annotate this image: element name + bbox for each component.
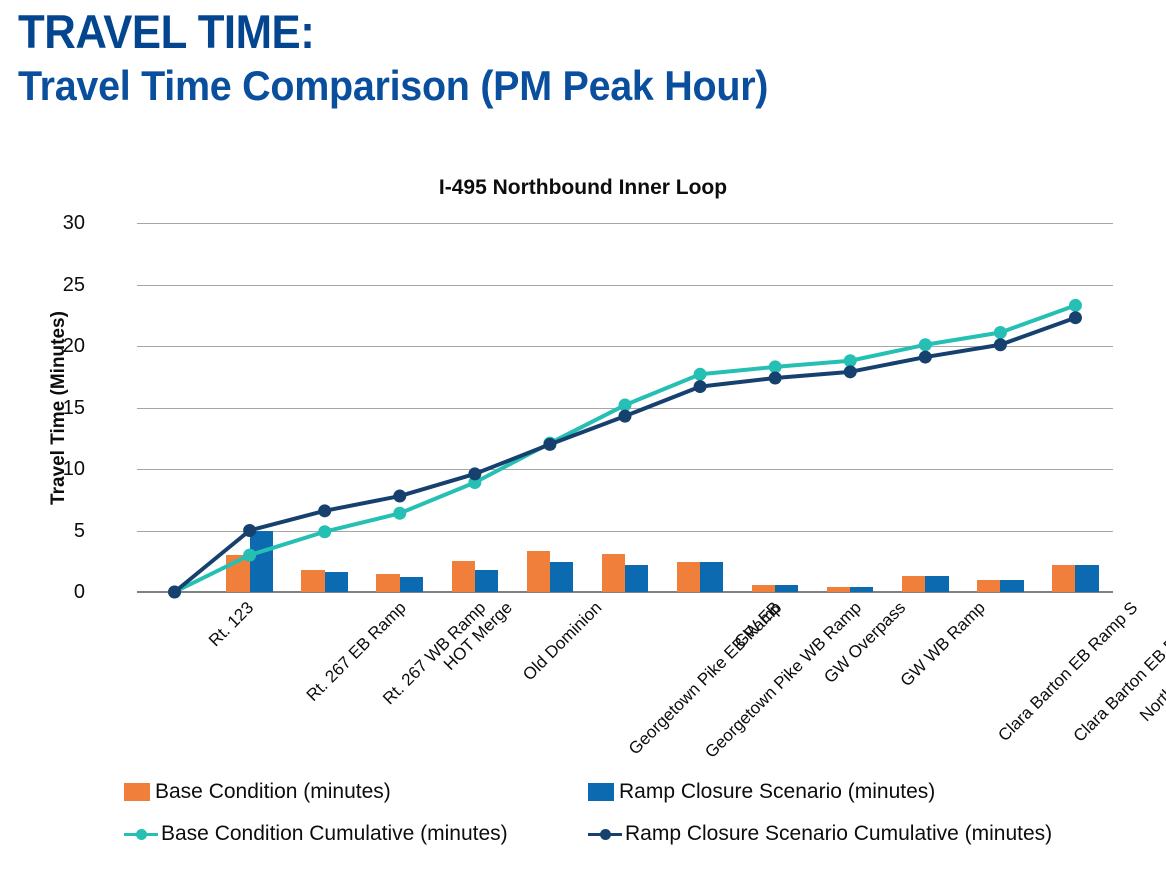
legend-swatch-icon [124, 783, 150, 801]
y-tick-label: 20 [25, 335, 85, 358]
lines-layer [137, 223, 1113, 592]
y-tick-label: 15 [25, 397, 85, 420]
data-point-marker [994, 338, 1007, 351]
chart: I-495 Northbound Inner Loop Travel Time … [0, 168, 1166, 778]
legend-label: Base Condition Cumulative (minutes) [161, 822, 508, 846]
y-tick-label: 25 [25, 274, 85, 297]
data-point-marker [243, 524, 256, 537]
x-tick-label: Clara Barton EB Ramp S [995, 598, 1143, 746]
data-point-marker [769, 371, 782, 384]
chart-legend: Base Condition (minutes)Ramp Closure Sce… [0, 780, 1166, 880]
data-point-marker [468, 467, 481, 480]
plot-area: Travel Time (Minutes) 051015202530 [137, 223, 1113, 592]
slide-heading: TRAVEL TIME: Travel Time Comparison (PM … [18, 4, 1148, 112]
legend-label: Base Condition (minutes) [155, 780, 391, 804]
data-point-marker [1069, 299, 1082, 312]
data-point-marker [919, 351, 932, 364]
data-point-marker [243, 549, 256, 562]
data-point-marker [619, 399, 632, 412]
x-tick-label: GW WB Ramp [897, 598, 990, 691]
y-tick-label: 10 [25, 458, 85, 481]
data-point-marker [168, 586, 181, 599]
data-point-marker [919, 338, 932, 351]
x-tick-label: GW EB [731, 598, 785, 652]
chart-title: I-495 Northbound Inner Loop [0, 176, 1166, 200]
data-point-marker [994, 326, 1007, 339]
data-point-marker [619, 410, 632, 423]
legend-swatch-icon [588, 783, 614, 801]
y-tick-label: 5 [25, 520, 85, 543]
data-point-marker [1069, 311, 1082, 324]
x-tick-label: Old Dominion [519, 598, 606, 685]
legend-label: Ramp Closure Scenario Cumulative (minute… [625, 822, 1052, 846]
line-series [175, 318, 1076, 592]
legend-item[interactable]: Ramp Closure Scenario Cumulative (minute… [588, 822, 1052, 846]
legend-item[interactable]: Base Condition (minutes) [124, 780, 391, 804]
y-tick-label: 30 [25, 212, 85, 235]
data-point-marker [318, 504, 331, 517]
data-point-marker [844, 354, 857, 367]
data-point-marker [844, 365, 857, 378]
data-point-marker [393, 507, 406, 520]
data-point-marker [694, 368, 707, 381]
data-point-marker [543, 438, 556, 451]
legend-item[interactable]: Ramp Closure Scenario (minutes) [588, 780, 935, 804]
data-point-marker [694, 380, 707, 393]
y-tick-label: 0 [25, 581, 85, 604]
legend-item[interactable]: Base Condition Cumulative (minutes) [124, 822, 508, 846]
line-series [175, 305, 1076, 592]
slide-heading-line2: Travel Time Comparison (PM Peak Hour) [18, 60, 1080, 112]
slide-heading-line1: TRAVEL TIME: [18, 4, 1069, 60]
legend-line-icon [588, 825, 622, 843]
legend-label: Ramp Closure Scenario (minutes) [619, 780, 935, 804]
data-point-marker [769, 360, 782, 373]
x-tick-label: Rt. 123 [205, 598, 258, 651]
legend-line-icon [124, 825, 158, 843]
x-axis-ticks: Rt. 123Rt. 267 EB RampRt. 267 WB RampHOT… [137, 598, 1113, 773]
data-point-marker [393, 490, 406, 503]
data-point-marker [318, 525, 331, 538]
